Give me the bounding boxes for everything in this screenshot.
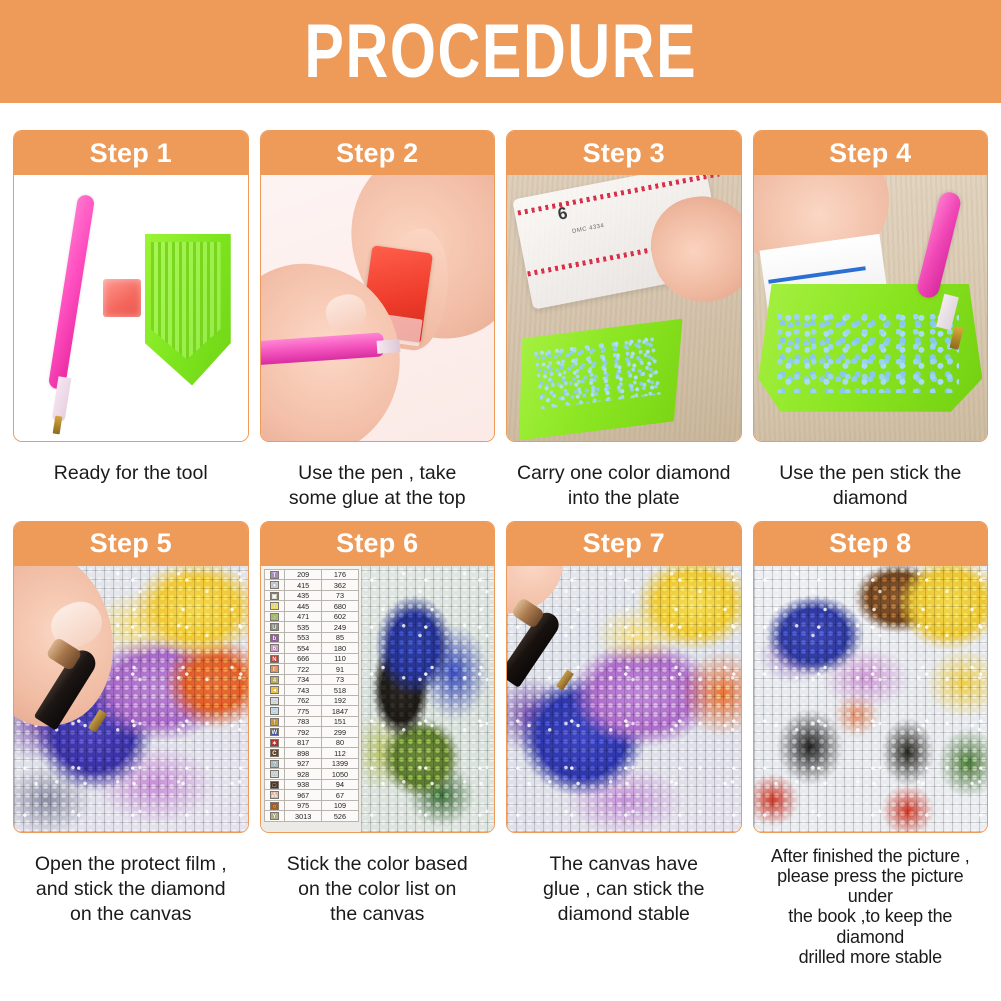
canvas-panel — [361, 566, 494, 832]
color-chart-row: ≈7751847 — [264, 706, 358, 717]
color-chart-symbol-cell: b — [264, 632, 285, 643]
step-caption-6: Stick the color basedon the color list o… — [260, 852, 496, 927]
step-caption-4: Use the pen stick thediamond — [753, 461, 989, 511]
color-swatch-icon: T — [270, 571, 279, 579]
step-header-5: Step 5 — [14, 522, 248, 566]
color-chart-panel: T209176●415362▣435737445680♪471602U53524… — [261, 566, 361, 832]
color-chart-count-cell: 109 — [322, 800, 359, 811]
step-card-1[interactable]: Step 1 — [13, 130, 249, 442]
page-title: PROCEDURE — [304, 14, 697, 90]
color-chart-count-cell: 1847 — [322, 706, 359, 717]
step-card-5[interactable]: Step 5 — [13, 521, 249, 833]
color-chart-row: ▣43573 — [264, 590, 358, 601]
steps-grid-row-2: Step 5 Open the protect film ,and stick … — [0, 511, 1001, 967]
color-chart-row: =762192 — [264, 695, 358, 706]
color-chart-code-cell: 762 — [285, 695, 322, 706]
color-chart-row: ●415362 — [264, 580, 358, 591]
color-swatch-icon: ≈ — [270, 707, 279, 715]
step-cell-1: Step 1 Ready for the tool — [13, 130, 249, 511]
step-cell-7: Step 7 The canvas haveglue , can stick t… — [506, 521, 742, 967]
step-caption-3: Carry one color diamondinto the plate — [506, 461, 742, 511]
color-chart-symbol-cell: U — [264, 622, 285, 633]
color-chart-count-cell: 299 — [322, 727, 359, 738]
step-photo-8 — [754, 566, 988, 832]
color-chart-count-cell: 94 — [322, 779, 359, 790]
step-header-label-7: Step 7 — [583, 530, 665, 557]
color-chart-code-cell: 666 — [285, 653, 322, 664]
color-chart-code-cell: 792 — [285, 727, 322, 738]
step-card-7[interactable]: Step 7 — [506, 521, 742, 833]
color-swatch-icon: U — [270, 623, 279, 631]
color-chart-row: U535249 — [264, 622, 358, 633]
color-chart-row: W792299 — [264, 727, 358, 738]
color-chart-code-cell: 975 — [285, 800, 322, 811]
step-caption-8: After finished the picture ,please press… — [753, 846, 989, 967]
color-chart-count-cell: 151 — [322, 716, 359, 727]
color-chart-row: 6554180 — [264, 643, 358, 654]
color-chart-code-cell: 415 — [285, 580, 322, 591]
color-chart-symbol-cell: Y — [264, 811, 285, 822]
color-chart-code-cell: 535 — [285, 622, 322, 633]
step-photo-1 — [14, 175, 248, 441]
color-chart-count-cell: 73 — [322, 590, 359, 601]
color-chart-table: T209176●415362▣435737445680♪471602U53524… — [264, 569, 359, 822]
color-chart-row: T209176 — [264, 569, 358, 580]
color-chart-code-cell: 898 — [285, 748, 322, 759]
color-swatch-icon: C — [270, 749, 279, 757]
color-swatch-icon: = — [270, 697, 279, 705]
blue-diamonds-icon — [777, 313, 959, 393]
color-swatch-icon: b — [270, 634, 279, 642]
color-chart-code-cell: 775 — [285, 706, 322, 717]
color-swatch-icon: 6 — [270, 644, 279, 652]
step-header-4: Step 4 — [754, 131, 988, 175]
diamond-sparkle-icon — [361, 566, 494, 832]
diamond-sparkle-icon — [507, 566, 741, 832]
step-header-3: Step 3 — [507, 131, 741, 175]
color-chart-symbol-cell: △ — [264, 769, 285, 780]
color-chart-count-cell: 362 — [322, 580, 359, 591]
color-chart-code-cell: 722 — [285, 664, 322, 675]
page-header-banner: PROCEDURE — [0, 0, 1001, 103]
color-chart-symbol-cell: = — [264, 695, 285, 706]
color-chart-symbol-cell: † — [264, 716, 285, 727]
color-chart-row: ◄743518 — [264, 685, 358, 696]
color-chart-symbol-cell: 6 — [264, 643, 285, 654]
color-chart-row: ?9271399 — [264, 758, 358, 769]
applicator-pen-icon — [48, 193, 95, 389]
color-swatch-icon: ▣ — [270, 592, 279, 600]
step-caption-7: The canvas haveglue , can stick thediamo… — [506, 852, 742, 927]
color-chart-code-cell: 938 — [285, 779, 322, 790]
color-chart-count-cell: 80 — [322, 737, 359, 748]
glue-square-icon — [103, 279, 141, 317]
color-chart-symbol-cell: 7 — [264, 601, 285, 612]
step-card-8[interactable]: Step 8 — [753, 521, 989, 833]
color-chart-symbol-cell: ≈ — [264, 706, 285, 717]
color-chart-symbol-cell: ⁂ — [264, 790, 285, 801]
color-chart-code-cell: 928 — [285, 769, 322, 780]
diamond-sparkle-icon — [754, 566, 988, 832]
step-caption-1: Ready for the tool — [13, 461, 249, 486]
step-card-2[interactable]: Step 2 — [260, 130, 496, 442]
color-swatch-icon: ● — [270, 581, 279, 589]
color-chart-code-cell: 817 — [285, 737, 322, 748]
color-chart-count-cell: 1050 — [322, 769, 359, 780]
step-photo-3: 6 DMC 4334 — [507, 175, 741, 441]
color-chart-symbol-cell: C — [264, 748, 285, 759]
color-chart-count-cell: 112 — [322, 748, 359, 759]
step-header-2: Step 2 — [261, 131, 495, 175]
pen-tip-icon — [377, 339, 401, 354]
color-chart-code-cell: 743 — [285, 685, 322, 696]
color-swatch-icon: Y — [270, 812, 279, 820]
step-card-3[interactable]: Step 3 6 DMC 4334 — [506, 130, 742, 442]
color-chart-code-cell: 927 — [285, 758, 322, 769]
step-header-7: Step 7 — [507, 522, 741, 566]
color-swatch-icon: W — [270, 728, 279, 736]
color-chart-symbol-cell: □ — [264, 779, 285, 790]
color-chart-code-cell: 967 — [285, 790, 322, 801]
color-chart-count-cell: 110 — [322, 653, 359, 664]
color-chart-count-cell: 192 — [322, 695, 359, 706]
step-header-8: Step 8 — [754, 522, 988, 566]
step-cell-6: Step 6 T209176●415362▣435737445680♪47160… — [260, 521, 496, 967]
step-photo-7 — [507, 566, 741, 832]
color-chart-code-cell: 3013 — [285, 811, 322, 822]
color-swatch-icon: ○ — [270, 802, 279, 810]
color-chart-code-cell: 435 — [285, 590, 322, 601]
color-chart-count-cell: 91 — [322, 664, 359, 675]
color-chart-count-cell: 176 — [322, 569, 359, 580]
color-chart-symbol-cell: N — [264, 653, 285, 664]
steps-grid-row-1: Step 1 Ready for the tool Step 2 — [0, 103, 1001, 511]
color-chart-row: Y3013526 — [264, 811, 358, 822]
color-chart-symbol-cell: ○ — [264, 800, 285, 811]
color-chart-count-cell: 73 — [322, 674, 359, 685]
color-swatch-icon: △ — [270, 770, 279, 778]
step-cell-5: Step 5 Open the protect film ,and stick … — [13, 521, 249, 967]
color-chart-symbol-cell: W — [264, 727, 285, 738]
color-chart-row: △9281050 — [264, 769, 358, 780]
color-chart-symbol-cell: T — [264, 569, 285, 580]
step-caption-2: Use the pen , takesome glue at the top — [260, 461, 496, 511]
color-chart-symbol-cell: ▣ — [264, 590, 285, 601]
step-header-label-4: Step 4 — [829, 140, 911, 167]
color-chart-row: □93894 — [264, 779, 358, 790]
color-chart-count-cell: 518 — [322, 685, 359, 696]
color-chart-symbol-cell: ‖ — [264, 664, 285, 675]
step-card-6[interactable]: Step 6 T209176●415362▣435737445680♪47160… — [260, 521, 496, 833]
step-header-label-6: Step 6 — [336, 530, 418, 557]
step-cell-3: Step 3 6 DMC 4334 Carry one color diamon… — [506, 130, 742, 511]
pen-metal-nib-icon — [53, 415, 63, 434]
chart-and-canvas-split: T209176●415362▣435737445680♪471602U53524… — [261, 566, 495, 832]
step-cell-2: Step 2 Use the pen , takesome glue at th… — [260, 130, 496, 511]
color-chart-symbol-cell: ? — [264, 758, 285, 769]
step-header-1: Step 1 — [14, 131, 248, 175]
step-header-label-2: Step 2 — [336, 140, 418, 167]
color-chart-row: ✶81780 — [264, 737, 358, 748]
color-chart-count-cell: 1399 — [322, 758, 359, 769]
color-chart-symbol-cell: 4 — [264, 674, 285, 685]
step-header-label-1: Step 1 — [90, 140, 172, 167]
color-swatch-icon: ♪ — [270, 613, 279, 621]
color-chart-count-cell: 680 — [322, 601, 359, 612]
color-chart-row: b55385 — [264, 632, 358, 643]
color-chart-code-cell: 471 — [285, 611, 322, 622]
color-chart-row: ○975109 — [264, 800, 358, 811]
color-swatch-icon: † — [270, 718, 279, 726]
step-photo-5 — [14, 566, 248, 832]
step-header-label-5: Step 5 — [90, 530, 172, 557]
color-chart-count-cell: 249 — [322, 622, 359, 633]
color-swatch-icon: □ — [270, 781, 279, 789]
color-swatch-icon: ? — [270, 760, 279, 768]
color-chart-row: 473473 — [264, 674, 358, 685]
step-photo-2 — [261, 175, 495, 441]
color-chart-count-cell: 526 — [322, 811, 359, 822]
color-chart-code-cell: 734 — [285, 674, 322, 685]
color-chart-row: ⁂96767 — [264, 790, 358, 801]
color-chart-row: 7445680 — [264, 601, 358, 612]
step-cell-8: Step 8 After finished the picture ,pleas… — [753, 521, 989, 967]
step-header-label-3: Step 3 — [583, 140, 665, 167]
color-swatch-icon: ✶ — [270, 739, 279, 747]
step-cell-4: Step 4 Use the pen stick thediamond — [753, 130, 989, 511]
step-card-4[interactable]: Step 4 — [753, 130, 989, 442]
step-header-label-8: Step 8 — [829, 530, 911, 557]
color-chart-code-cell: 209 — [285, 569, 322, 580]
color-chart-code-cell: 553 — [285, 632, 322, 643]
step-photo-6: T209176●415362▣435737445680♪471602U53524… — [261, 566, 495, 832]
color-chart-symbol-cell: ◄ — [264, 685, 285, 696]
color-swatch-icon: ◄ — [270, 686, 279, 694]
color-chart-code-cell: 554 — [285, 643, 322, 654]
color-swatch-icon: 7 — [270, 602, 279, 610]
color-swatch-icon: 4 — [270, 676, 279, 684]
color-chart-row: †783151 — [264, 716, 358, 727]
step-photo-4 — [754, 175, 988, 441]
color-swatch-icon: N — [270, 655, 279, 663]
step-header-6: Step 6 — [261, 522, 495, 566]
color-chart-count-cell: 180 — [322, 643, 359, 654]
color-chart-symbol-cell: ✶ — [264, 737, 285, 748]
color-chart-count-cell: 602 — [322, 611, 359, 622]
color-chart-row: ‖72291 — [264, 664, 358, 675]
color-chart-code-cell: 783 — [285, 716, 322, 727]
color-swatch-icon: ⁂ — [270, 791, 279, 799]
color-chart-count-cell: 85 — [322, 632, 359, 643]
color-chart-row: N666110 — [264, 653, 358, 664]
color-chart-symbol-cell: ♪ — [264, 611, 285, 622]
color-chart-row: C898112 — [264, 748, 358, 759]
color-chart-count-cell: 67 — [322, 790, 359, 801]
color-chart-code-cell: 445 — [285, 601, 322, 612]
color-chart-row: ♪471602 — [264, 611, 358, 622]
color-chart-symbol-cell: ● — [264, 580, 285, 591]
step-caption-5: Open the protect film ,and stick the dia… — [13, 852, 249, 927]
color-swatch-icon: ‖ — [270, 665, 279, 673]
